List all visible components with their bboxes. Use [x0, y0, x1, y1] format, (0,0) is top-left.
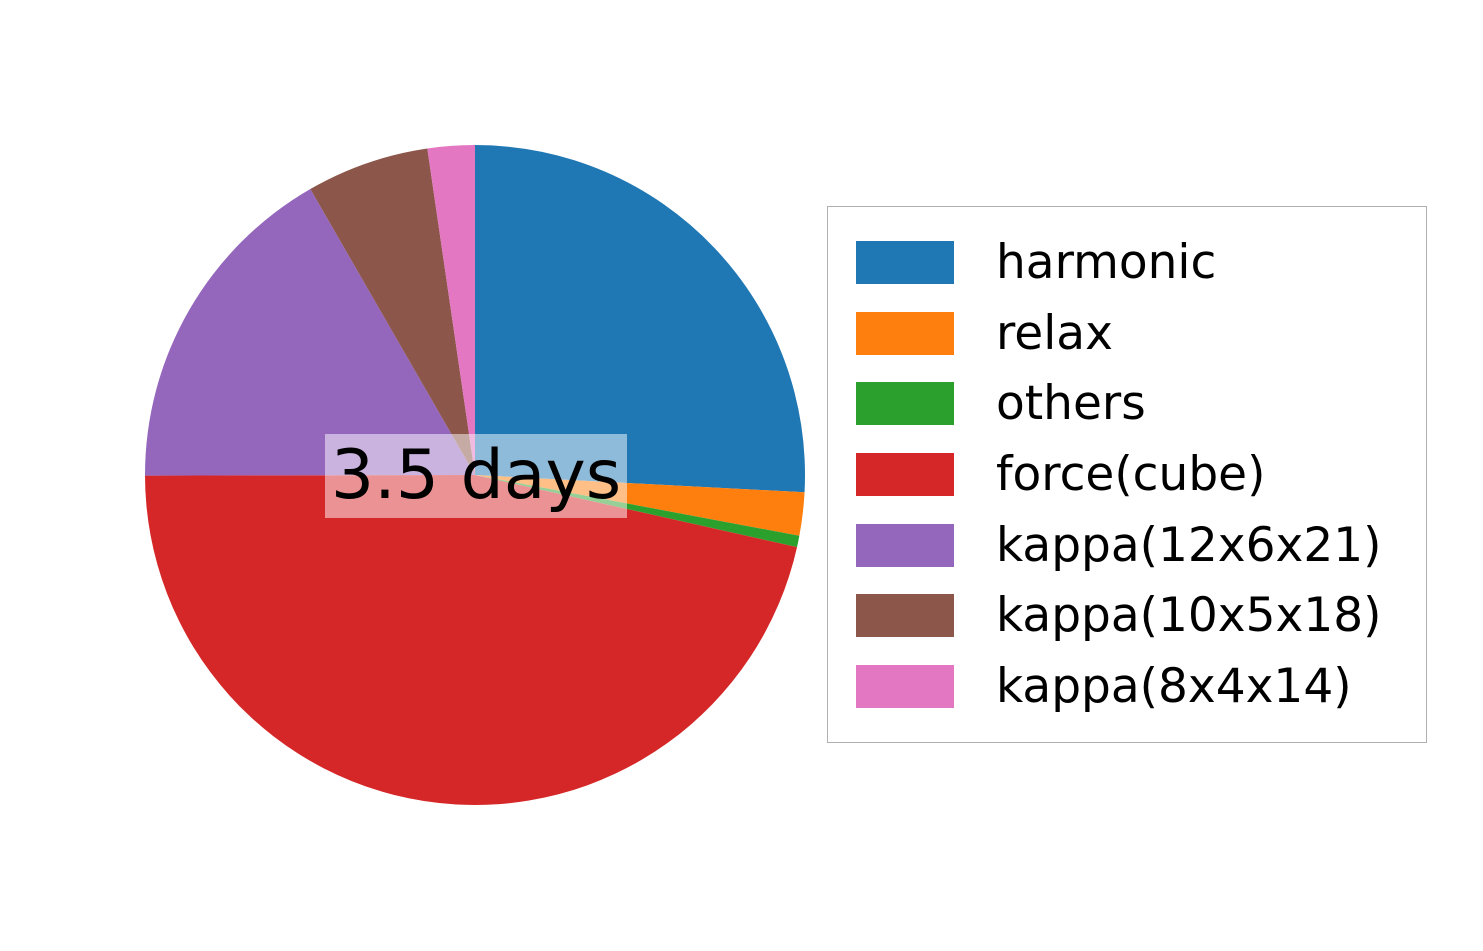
legend-item-label: harmonic	[996, 239, 1216, 286]
center-total-label: 3.5 days	[325, 434, 627, 518]
legend-color-swatch	[856, 382, 954, 425]
legend-item-label: kappa(8x4x14)	[996, 663, 1352, 710]
legend-color-swatch	[856, 453, 954, 496]
pie-chart-axes: 3.5 days	[0, 0, 960, 951]
legend-item[interactable]: kappa(12x6x21)	[828, 511, 1426, 579]
legend-item-label: others	[996, 380, 1146, 427]
legend-item[interactable]: harmonic	[828, 228, 1426, 296]
figure-canvas: 3.5 days harmonicrelaxothersforce(cube)k…	[0, 0, 1483, 951]
legend-item-label: kappa(12x6x21)	[996, 522, 1381, 569]
legend-item-label: relax	[996, 310, 1113, 357]
legend-item[interactable]: force(cube)	[828, 440, 1426, 508]
legend-item-label: force(cube)	[996, 451, 1265, 498]
center-total-text: 3.5 days	[331, 442, 621, 510]
chart-legend: harmonicrelaxothersforce(cube)kappa(12x6…	[827, 206, 1427, 743]
legend-color-swatch	[856, 524, 954, 567]
legend-item[interactable]: kappa(8x4x14)	[828, 653, 1426, 721]
legend-item[interactable]: others	[828, 370, 1426, 438]
legend-color-swatch	[856, 594, 954, 637]
legend-color-swatch	[856, 241, 954, 284]
legend-item[interactable]: kappa(10x5x18)	[828, 582, 1426, 650]
legend-item-label: kappa(10x5x18)	[996, 592, 1381, 639]
legend-color-swatch	[856, 312, 954, 355]
legend-color-swatch	[856, 665, 954, 708]
legend-item[interactable]: relax	[828, 299, 1426, 367]
